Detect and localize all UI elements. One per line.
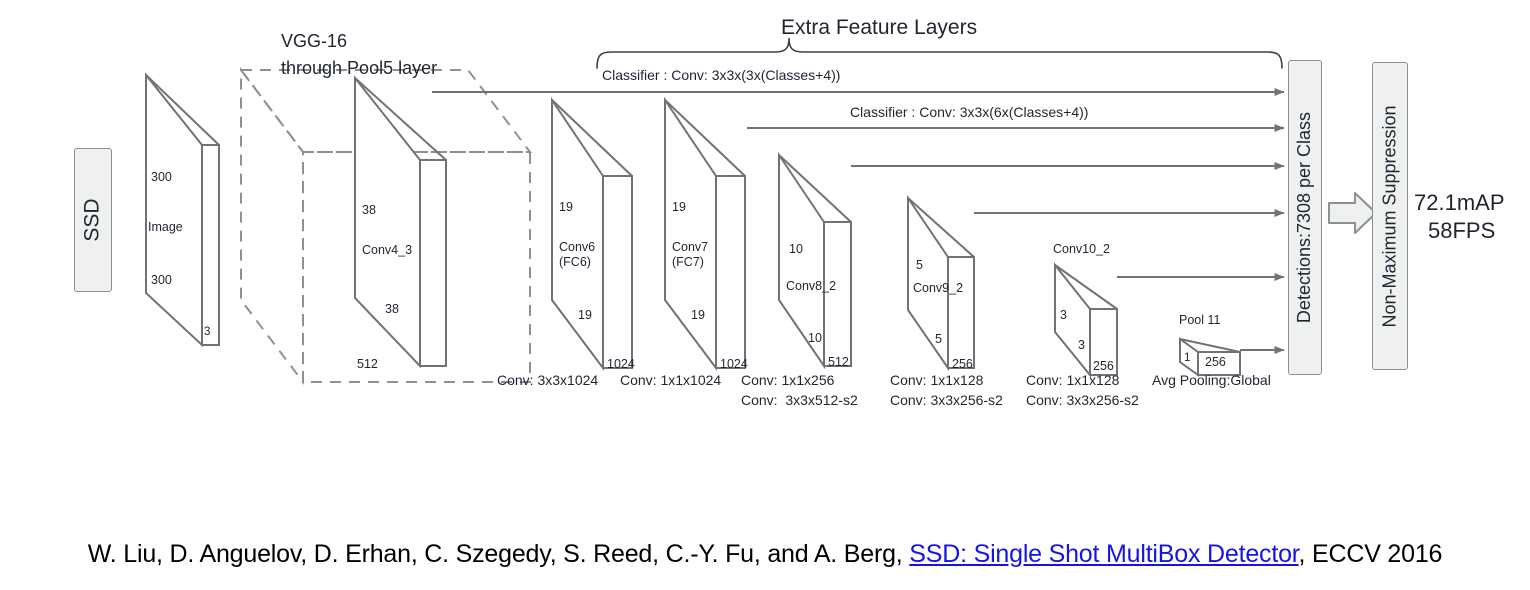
nms-label: Non-Maximum Suppression xyxy=(1380,105,1401,327)
result-map: 72.1mAP xyxy=(1414,190,1505,216)
conv6-dim-top: 19 xyxy=(559,200,573,215)
conv10_2-dim-top: 3 xyxy=(1060,308,1067,323)
conv-caption-conv8_2-l1: Conv: 1x1x128 xyxy=(890,372,983,389)
conv7-dim-bottom: 19 xyxy=(691,308,705,323)
avg-pooling-label: Avg Pooling:Global xyxy=(1152,372,1271,389)
conv10_2-dim-bottom: 3 xyxy=(1078,338,1085,353)
classifier-second-label: Classifier : Conv: 3x3x(6x(Classes+4)) xyxy=(850,104,1088,121)
conv9_2-depth: 256 xyxy=(952,357,973,372)
nms-box: Non-Maximum Suppression xyxy=(1372,62,1408,370)
image-name-label: Image xyxy=(148,220,183,235)
pool11-depth: 256 xyxy=(1205,355,1226,370)
conv6-depth: 1024 xyxy=(607,357,635,372)
conv-caption-conv6: Conv: 1x1x1024 xyxy=(620,372,721,389)
conv-caption-conv7-l1: Conv: 1x1x256 xyxy=(741,372,834,389)
extra-feature-layers-label: Extra Feature Layers xyxy=(781,16,977,41)
conv4_3-depth: 512 xyxy=(357,357,378,372)
block-conv7 xyxy=(665,100,745,368)
pool11-label: Pool 11 xyxy=(1179,313,1220,328)
conv7-name: Conv7 (FC7) xyxy=(672,240,708,270)
ssd-entry-box: SSD xyxy=(74,148,112,292)
citation: W. Liu, D. Anguelov, D. Erhan, C. Szeged… xyxy=(0,540,1530,569)
conv9_2-dim-bottom: 5 xyxy=(935,332,942,347)
conv10_2-name: Conv10_2 xyxy=(1053,242,1110,257)
classifier-top-label: Classifier : Conv: 3x3x(3x(Classes+4)) xyxy=(602,67,840,84)
conv9_2-dim-top: 5 xyxy=(916,258,923,273)
conv-caption-conv4_3: Conv: 3x3x1024 xyxy=(497,372,598,389)
detections-label: Detections:7308 per Class xyxy=(1295,112,1316,323)
conv7-depth: 1024 xyxy=(720,357,748,372)
conv-caption-conv9_2-l1: Conv: 1x1x128 xyxy=(1026,372,1119,389)
vgg16-label-line1: VGG-16 xyxy=(281,31,347,52)
conv-caption-conv8_2-l2: Conv: 3x3x256-s2 xyxy=(890,392,1003,409)
conv4_3-dim-bottom: 38 xyxy=(385,302,399,317)
conv8_2-dim-top: 10 xyxy=(789,242,803,257)
conv7-dim-top: 19 xyxy=(672,200,686,215)
conv-caption-conv7-l2: Conv: 3x3x512-s2 xyxy=(741,392,858,409)
result-fps: 58FPS xyxy=(1428,218,1495,244)
image-depth-label: 3 xyxy=(204,326,210,340)
conv-caption-conv9_2-l2: Conv: 3x3x256-s2 xyxy=(1026,392,1139,409)
image-height-label: 300 xyxy=(151,170,172,185)
conv8_2-depth: 512 xyxy=(828,355,849,370)
flow-arrow-to-nms xyxy=(1329,193,1376,233)
extra-feature-layers-brace xyxy=(597,38,1282,68)
conv6-name: Conv6 (FC6) xyxy=(559,240,595,270)
input-image-slab xyxy=(146,75,219,345)
citation-link[interactable]: SSD: Single Shot MultiBox Detector xyxy=(909,540,1298,568)
conv8_2-name: Conv8_2 xyxy=(786,279,836,294)
citation-venue: , ECCV 2016 xyxy=(1299,540,1443,568)
vgg16-label-line2: through Pool5 layer xyxy=(281,58,437,79)
ssd-label: SSD xyxy=(81,198,105,241)
citation-authors: W. Liu, D. Anguelov, D. Erhan, C. Szeged… xyxy=(88,540,910,568)
block-conv6 xyxy=(552,100,632,368)
pool11-dim: 1 xyxy=(1184,352,1190,366)
conv4_3-dim-top: 38 xyxy=(362,203,376,218)
conv8_2-dim-bottom: 10 xyxy=(808,331,822,346)
image-width-label: 300 xyxy=(151,273,172,288)
conv9_2-name: Conv9_2 xyxy=(913,281,963,296)
block-conv4_3 xyxy=(355,78,446,366)
detections-box: Detections:7308 per Class xyxy=(1288,60,1322,375)
conv6-dim-bottom: 19 xyxy=(578,308,592,323)
conv4_3-name: Conv4_3 xyxy=(362,243,412,258)
